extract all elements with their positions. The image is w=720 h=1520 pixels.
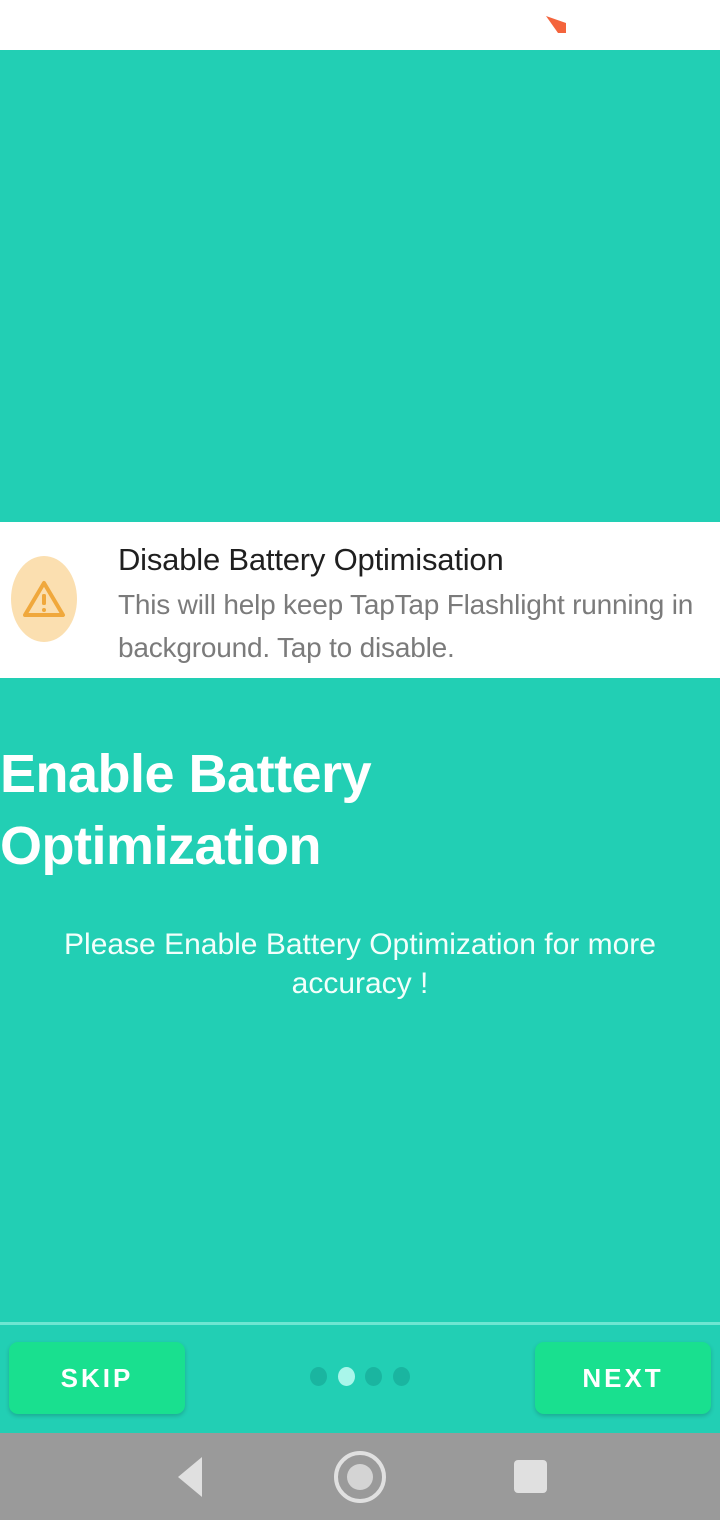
- android-navigation-bar: [0, 1433, 720, 1520]
- next-button[interactable]: NEXT: [535, 1342, 711, 1414]
- page-indicator[interactable]: [310, 1363, 410, 1389]
- nav-recents-button[interactable]: [450, 1433, 610, 1520]
- nav-home-button[interactable]: [280, 1433, 440, 1520]
- page-dot-4[interactable]: [393, 1367, 410, 1386]
- page-dot-2[interactable]: [338, 1367, 355, 1386]
- notification-title: Disable Battery Optimisation: [118, 540, 714, 580]
- page-dot-1[interactable]: [310, 1367, 327, 1386]
- warning-triangle-icon: [22, 579, 66, 619]
- page-title: Enable Battery Optimization: [0, 738, 700, 882]
- notification-text-block: Disable Battery Optimisation This will h…: [118, 540, 714, 669]
- home-circle-icon: [334, 1451, 386, 1503]
- recents-square-icon: [514, 1460, 547, 1493]
- page-title-line-2: Optimization: [0, 810, 700, 882]
- nav-back-button[interactable]: [110, 1433, 270, 1520]
- notification-body-line-1: This will help keep TapTap Flashlight ru…: [118, 583, 714, 626]
- notification-icon-wrap: [10, 555, 78, 643]
- page-title-line-1: Enable Battery: [0, 738, 700, 810]
- page-dot-3[interactable]: [365, 1367, 382, 1386]
- notification-body-line-2: background. Tap to disable.: [118, 626, 714, 669]
- back-triangle-icon: [178, 1457, 202, 1497]
- notification-body: This will help keep TapTap Flashlight ru…: [118, 583, 714, 669]
- bottom-divider: [0, 1322, 720, 1325]
- skip-button[interactable]: SKIP: [9, 1342, 185, 1414]
- orange-triangle-indicator-icon: [545, 14, 567, 34]
- warning-icon-background: [11, 556, 77, 642]
- home-circle-inner: [347, 1464, 373, 1490]
- battery-optimisation-notification-card[interactable]: Disable Battery Optimisation This will h…: [0, 522, 720, 678]
- app-screen: Disable Battery Optimisation This will h…: [0, 0, 720, 1520]
- page-subtitle: Please Enable Battery Optimization for m…: [60, 925, 660, 1003]
- status-bar: [0, 0, 720, 50]
